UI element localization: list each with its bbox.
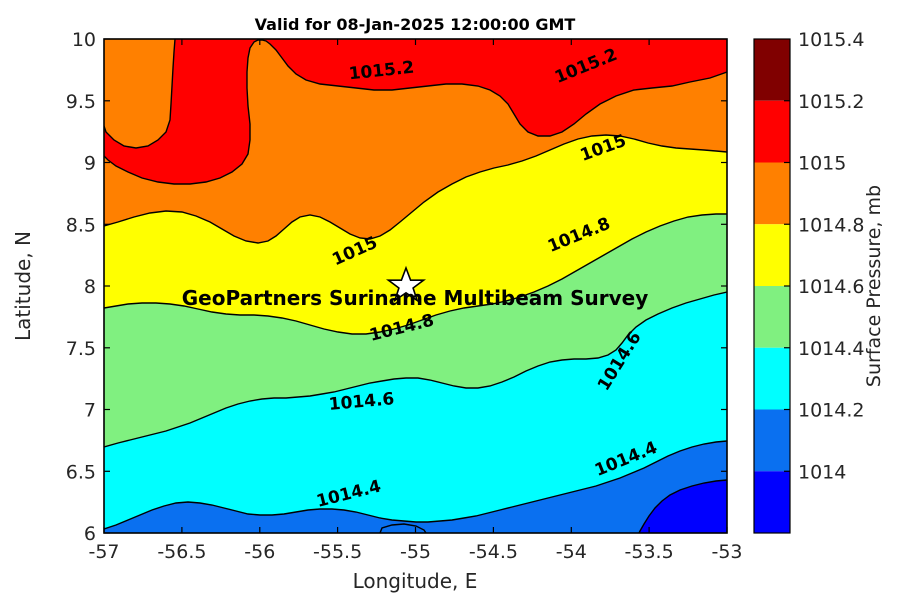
x-tick-7: -53.5 <box>625 541 674 563</box>
y-tick-3: 8.5 <box>66 214 96 236</box>
colorbar-swatch-1014p2 <box>754 410 790 472</box>
colorbar-swatch-1014p8 <box>754 224 790 286</box>
colorbar-swatch-1015 <box>754 163 790 225</box>
figure-canvas: 1015.2 1015.2 1015 1015 1014.8 1014.8 10… <box>0 0 900 600</box>
x-axis-title: Longitude, E <box>353 569 478 593</box>
y-axis-title: Latitude, N <box>11 231 35 341</box>
page-title: Valid for 08-Jan-2025 12:00:00 GMT <box>255 15 576 34</box>
y-tick-8: 6 <box>84 523 96 545</box>
colorbar-swatch-1015p4 <box>754 39 790 101</box>
cbar-tick-2: 1015 <box>798 153 846 175</box>
colorbar-tick-labels: 1015.4 1015.2 1015 1014.8 1014.6 1014.4 … <box>798 29 864 483</box>
x-tick-3: -55.5 <box>313 541 362 563</box>
cbar-tick-3: 1014.8 <box>798 214 864 236</box>
colorbar-swatch-1014 <box>754 471 790 533</box>
y-tick-5: 7.5 <box>66 338 96 360</box>
y-tick-7: 6.5 <box>66 461 96 483</box>
cbar-tick-0: 1015.4 <box>798 29 864 51</box>
y-tick-2: 9 <box>84 153 96 175</box>
x-tick-2: -56 <box>244 541 275 563</box>
contour-figure: 1015.2 1015.2 1015 1015 1014.8 1014.8 10… <box>0 0 900 600</box>
cbar-tick-7: 1014 <box>798 461 846 483</box>
y-tick-labels: 10 9.5 9 8.5 8 7.5 7 6.5 6 <box>66 29 96 545</box>
y-tick-6: 7 <box>84 400 96 422</box>
y-tick-1: 9.5 <box>66 91 96 113</box>
cbar-tick-1: 1015.2 <box>798 91 864 113</box>
x-tick-8: -53 <box>711 541 742 563</box>
contour-band-1015-upper-left <box>104 39 175 148</box>
cbar-tick-4: 1014.6 <box>798 276 864 298</box>
colorbar-swatch-1015p2 <box>754 101 790 163</box>
site-label: GeoPartners Suriname Multibeam Survey <box>182 286 649 310</box>
x-tick-4: -55 <box>400 541 431 563</box>
contour-fill-group: 1015.2 1015.2 1015 1015 1014.8 1014.8 10… <box>104 39 727 533</box>
colorbar[interactable]: 1015.4 1015.2 1015 1014.8 1014.6 1014.4 … <box>754 29 885 533</box>
x-tick-6: -54 <box>556 541 587 563</box>
cbar-tick-5: 1014.4 <box>798 338 864 360</box>
y-tick-0: 10 <box>72 29 96 51</box>
y-tick-4: 8 <box>84 276 96 298</box>
x-tick-labels: -57 -56.5 -56 -55.5 -55 -54.5 -54 -53.5 … <box>88 541 742 563</box>
colorbar-title: Surface Pressure, mb <box>863 185 885 387</box>
colorbar-swatch-1014p6 <box>754 286 790 348</box>
colorbar-swatch-1014p4 <box>754 348 790 410</box>
cbar-tick-6: 1014.2 <box>798 400 864 422</box>
x-tick-1: -56.5 <box>157 541 206 563</box>
x-tick-5: -54.5 <box>469 541 518 563</box>
